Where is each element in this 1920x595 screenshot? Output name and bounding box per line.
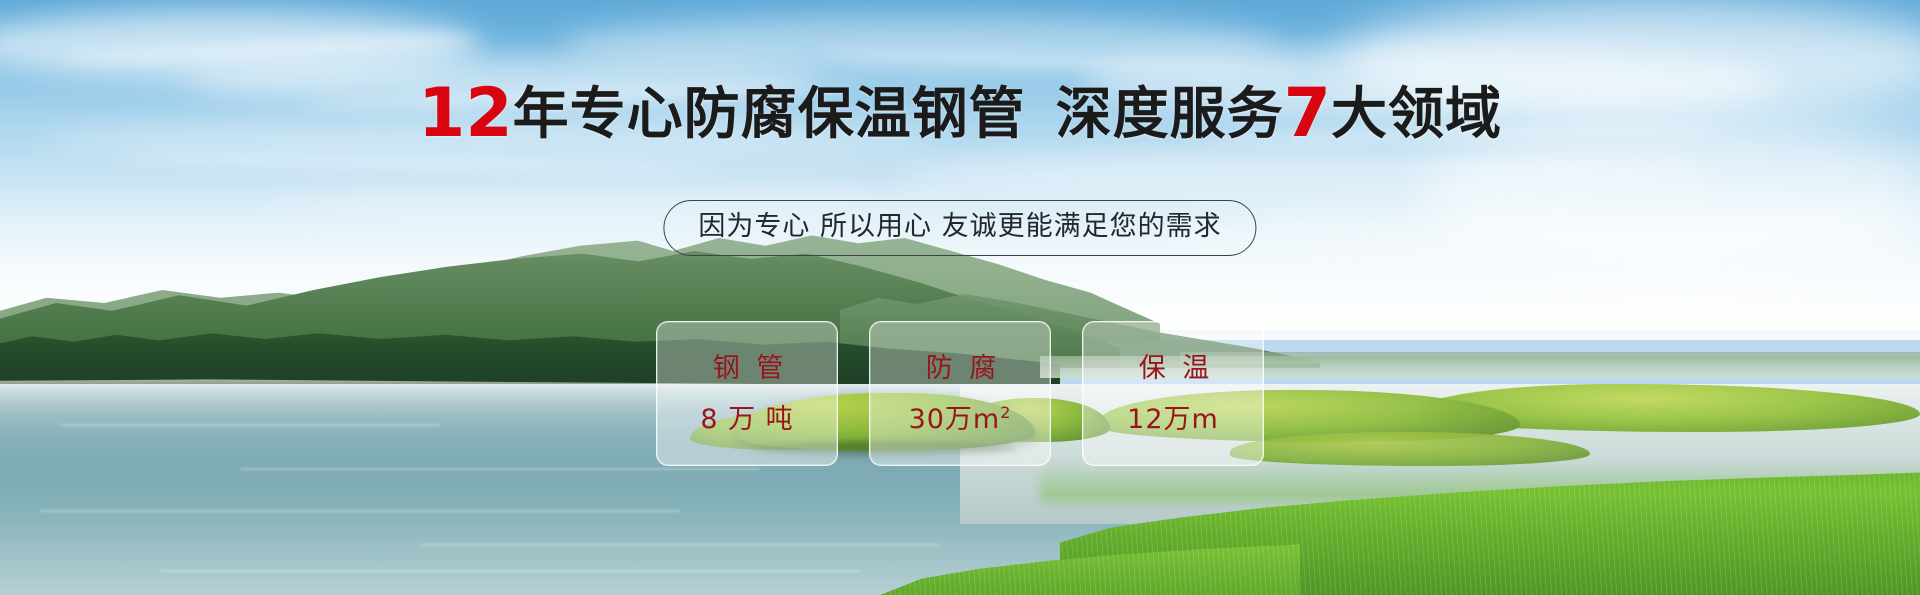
headline-part-three: 大领域 (1331, 82, 1502, 147)
stat-card-value-text: 30万m (909, 404, 1001, 436)
stat-card-title: 保 温 (1135, 352, 1214, 386)
stat-card-anticorrosion[interactable]: 防 腐 30万m2 (869, 321, 1051, 466)
stat-card-value-text: 12万m (1127, 404, 1219, 436)
stat-card-value: 8 万 吨 (700, 404, 793, 436)
headline-fields-number: 7 (1284, 74, 1331, 153)
stat-card-value: 30万m2 (909, 404, 1012, 436)
headline-part-two: 深度服务 (1056, 82, 1284, 147)
stat-card-value-superscript: 2 (1000, 405, 1011, 421)
stat-card-steel-pipe[interactable]: 钢 管 8 万 吨 (656, 321, 838, 466)
promo-banner: 12年专心防腐保温钢管深度服务7大领域 因为专心 所以用心 友诚更能满足您的需求… (0, 0, 1920, 595)
stat-card-title: 防 腐 (922, 352, 1001, 386)
stat-card-value: 12万m (1127, 404, 1219, 436)
headline-part-one: 年专心防腐保温钢管 (513, 82, 1026, 147)
headline-years-number: 12 (418, 74, 513, 153)
stat-card-value-text: 8 万 吨 (700, 404, 793, 436)
stat-card-insulation[interactable]: 保 温 12万m (1082, 321, 1264, 466)
stat-card-title: 钢 管 (709, 352, 788, 386)
stat-card-list: 钢 管 8 万 吨 防 腐 30万m2 保 温 12万m (656, 321, 1264, 466)
banner-content: 12年专心防腐保温钢管深度服务7大领域 因为专心 所以用心 友诚更能满足您的需求… (0, 0, 1920, 595)
headline: 12年专心防腐保温钢管深度服务7大领域 (0, 82, 1920, 147)
subtitle-pill: 因为专心 所以用心 友诚更能满足您的需求 (663, 200, 1256, 256)
